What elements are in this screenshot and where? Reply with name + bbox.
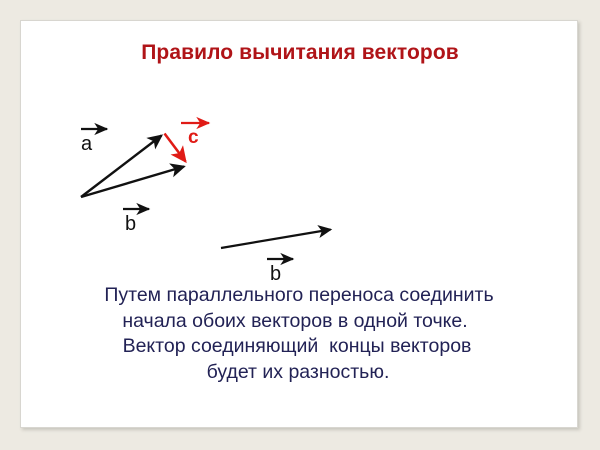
slide-card: Правило вычитания векторов bbox=[20, 20, 578, 428]
vector-b-translated-line bbox=[221, 230, 331, 249]
body-text-line-3: Вектор соединяющий концы векторов bbox=[21, 334, 579, 360]
slide-root: Правило вычитания векторов bbox=[0, 0, 600, 450]
body-text-line-2: начала обоих векторов в одной точке. bbox=[21, 309, 579, 335]
vector-subtraction-diagram: a b c b bbox=[21, 21, 579, 291]
body-text: Путем параллельного переноса соединить н… bbox=[21, 283, 579, 386]
body-text-line-1: Путем параллельного переноса соединить bbox=[21, 283, 579, 309]
vector-c-line bbox=[165, 134, 186, 162]
vector-b-triangle-label: b bbox=[125, 214, 136, 234]
vector-b-translated-label: b bbox=[270, 264, 281, 284]
vector-diagram-svg bbox=[21, 21, 579, 291]
vector-b-triangle-line bbox=[81, 167, 184, 198]
vector-a-line bbox=[81, 136, 162, 198]
body-text-line-4: будет их разностью. bbox=[21, 360, 579, 386]
vector-c-label: c bbox=[188, 128, 199, 147]
vector-a-label: a bbox=[81, 134, 92, 154]
